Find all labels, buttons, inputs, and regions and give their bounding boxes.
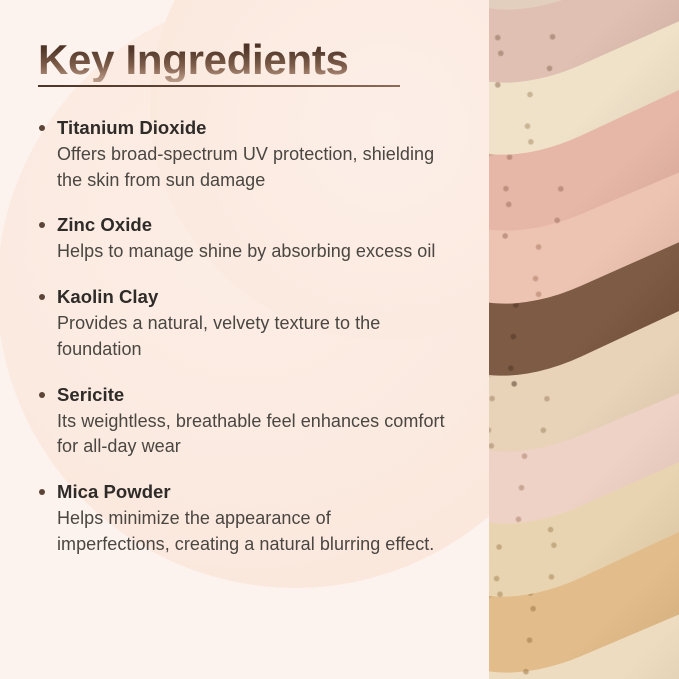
ingredient-name: Kaolin Clay (57, 285, 448, 310)
ingredient-description: Provides a natural, velvety texture to t… (57, 311, 448, 362)
powder-swatch-image (489, 0, 679, 679)
list-item: Kaolin ClayProvides a natural, velvety t… (38, 285, 448, 362)
bullet-dot-icon (39, 294, 45, 300)
key-ingredients-poster: Key Ingredients Titanium DioxideOffers b… (0, 0, 679, 679)
ingredient-description: Helps minimize the appearance of imperfe… (57, 506, 448, 557)
bullet-dot-icon (39, 392, 45, 398)
ingredient-name: Titanium Dioxide (57, 116, 448, 141)
ingredient-description: Offers broad-spectrum UV protection, shi… (57, 142, 448, 193)
ingredient-list: Titanium DioxideOffers broad-spectrum UV… (38, 116, 448, 557)
powder-band-stack (489, 0, 679, 679)
title-block: Key Ingredients (38, 38, 400, 87)
ingredient-name: Zinc Oxide (57, 213, 448, 238)
bullet-dot-icon (39, 125, 45, 131)
bullet-dot-icon (39, 489, 45, 495)
page-title: Key Ingredients (38, 38, 400, 82)
content-column: Key Ingredients Titanium DioxideOffers b… (0, 0, 470, 679)
title-underline (38, 85, 400, 87)
list-item: Zinc OxideHelps to manage shine by absor… (38, 213, 448, 265)
ingredient-description: Its weightless, breathable feel enhances… (57, 409, 448, 460)
list-item: Mica PowderHelps minimize the appearance… (38, 480, 448, 557)
ingredient-name: Mica Powder (57, 480, 448, 505)
list-item: Titanium DioxideOffers broad-spectrum UV… (38, 116, 448, 193)
ingredient-name: Sericite (57, 383, 448, 408)
list-item: SericiteIts weightless, breathable feel … (38, 383, 448, 460)
bullet-dot-icon (39, 222, 45, 228)
ingredient-description: Helps to manage shine by absorbing exces… (57, 239, 448, 265)
